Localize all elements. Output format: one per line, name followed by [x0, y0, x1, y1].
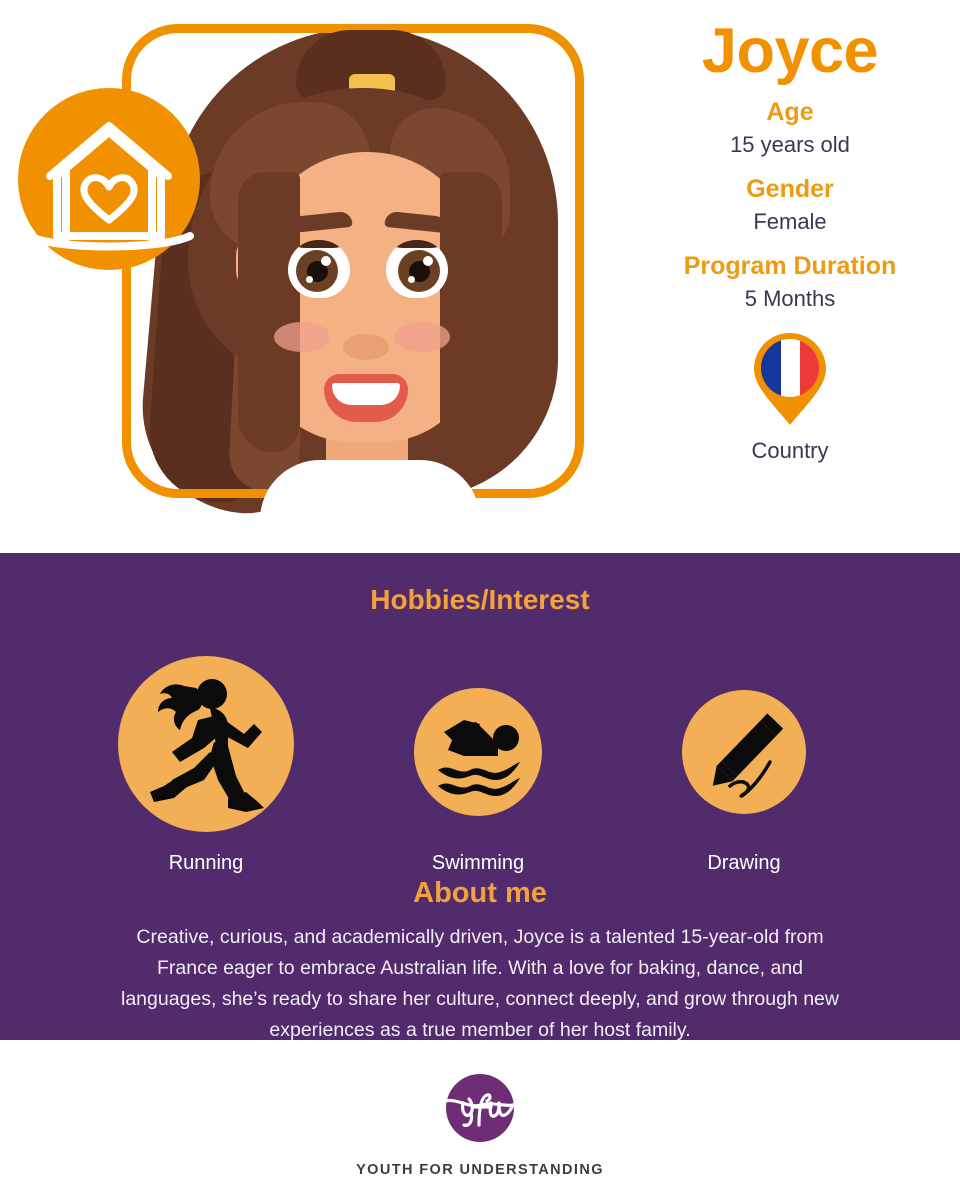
profile-header-section: Joyce Age 15 years old Gender Female Pro…	[0, 0, 960, 553]
about-section-text: Creative, curious, and academically driv…	[110, 922, 850, 1046]
field-value-gender: Female	[620, 206, 960, 238]
hobby-circle-swimming	[414, 688, 542, 816]
country-block: Country	[620, 329, 960, 464]
pencil-drawing-icon	[682, 690, 806, 814]
teeth-shape	[332, 383, 400, 405]
france-flag-pin-icon	[750, 329, 830, 429]
field-label-program-duration: Program Duration	[620, 251, 960, 281]
eye-glint-left-small	[306, 276, 313, 283]
eye-glint-right-large	[423, 256, 433, 266]
hobby-item-running[interactable]: Running	[118, 656, 294, 875]
yfu-logo-icon	[437, 1065, 523, 1151]
hobby-label-running: Running	[118, 851, 294, 875]
hobby-label-swimming: Swimming	[414, 851, 542, 875]
hobby-item-swimming[interactable]: Swimming	[414, 688, 542, 875]
hobbies-section-title: Hobbies/Interest	[0, 584, 960, 616]
hobbies-row: Running Swimming	[0, 616, 960, 881]
iris-left	[296, 250, 338, 292]
running-icon	[118, 656, 294, 832]
page-title: Joyce	[620, 18, 960, 84]
eye-right	[386, 240, 448, 298]
iris-right	[398, 250, 440, 292]
field-value-program-duration: 5 Months	[620, 283, 960, 315]
country-label: Country	[620, 438, 960, 464]
field-label-age: Age	[620, 97, 960, 127]
eye-left	[288, 240, 350, 298]
hobby-label-drawing: Drawing	[682, 851, 806, 875]
profile-info-column: Joyce Age 15 years old Gender Female Pro…	[620, 0, 960, 553]
nose-shape	[343, 334, 389, 360]
eye-glint-right-small	[408, 276, 415, 283]
footer: YOUTH FOR UNDERSTANDING	[0, 1040, 960, 1200]
hobby-circle-drawing	[682, 690, 806, 814]
eye-glint-left-large	[321, 256, 331, 266]
field-program-duration: Program Duration 5 Months	[620, 251, 960, 315]
field-label-gender: Gender	[620, 174, 960, 204]
hobby-item-drawing[interactable]: Drawing	[682, 690, 806, 875]
swimming-icon	[414, 688, 542, 816]
cheek-blush-left	[274, 322, 330, 352]
house-heart-icon	[18, 88, 200, 270]
avatar-area	[0, 0, 620, 553]
cheek-blush-right	[394, 322, 450, 352]
field-age: Age 15 years old	[620, 97, 960, 161]
field-gender: Gender Female	[620, 174, 960, 238]
footer-wordmark: YOUTH FOR UNDERSTANDING	[0, 1162, 960, 1178]
about-section-title: About me	[0, 877, 960, 910]
field-value-age: 15 years old	[620, 129, 960, 161]
shirt-shape	[260, 460, 480, 540]
hair-side-right	[440, 172, 502, 452]
hobby-circle-running	[118, 656, 294, 832]
hobbies-about-section: Hobbies/Interest	[0, 553, 960, 1040]
student-profile-card: Joyce Age 15 years old Gender Female Pro…	[0, 0, 960, 1200]
hair-side-left	[238, 172, 300, 452]
mouth-shape	[324, 374, 408, 422]
